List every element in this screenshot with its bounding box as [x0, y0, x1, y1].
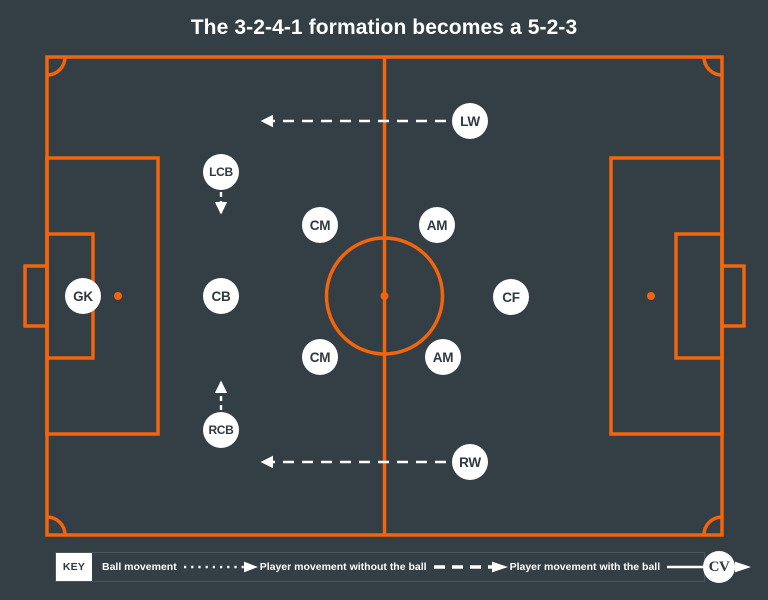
corner-arc-top-right	[704, 57, 722, 75]
football-pitch	[0, 0, 768, 600]
left-penalty-spot	[114, 292, 122, 300]
corner-arc-top-left	[47, 57, 65, 75]
legend-item-ball-movement: Ball movement	[102, 561, 260, 573]
centre-spot	[381, 292, 389, 300]
player-token-lw[interactable]: LW	[452, 103, 488, 139]
legend-label-ball-movement: Ball movement	[102, 561, 177, 573]
left-goal	[25, 266, 47, 326]
cv-logo-badge: CV	[703, 551, 735, 583]
player-token-lcb[interactable]: LCB	[203, 154, 239, 190]
legend-item-player-movement-without-ball: Player movement without the ball	[260, 561, 510, 573]
player-token-cb[interactable]: CB	[203, 278, 239, 314]
left-penalty-area	[47, 158, 158, 434]
legend-label-player-movement-with-ball: Player movement with the ball	[510, 561, 661, 573]
corner-arc-bottom-right	[704, 517, 722, 535]
right-goal-area	[676, 234, 722, 358]
player-token-rw[interactable]: RW	[452, 444, 488, 480]
corner-arc-bottom-left	[47, 517, 65, 535]
ball-movement-line-icon	[184, 561, 260, 573]
player-token-cm-bottom[interactable]: CM	[302, 339, 338, 375]
player-token-gk[interactable]: GK	[65, 278, 101, 314]
player-token-rcb[interactable]: RCB	[203, 412, 239, 448]
player-token-am-top[interactable]: AM	[419, 207, 455, 243]
right-penalty-area	[611, 158, 722, 434]
player-token-cm-top[interactable]: CM	[302, 207, 338, 243]
player-movement-without-ball-line-icon	[434, 561, 510, 573]
right-goal	[722, 266, 744, 326]
player-token-am-bottom[interactable]: AM	[425, 339, 461, 375]
right-penalty-spot	[647, 292, 655, 300]
player-token-cf[interactable]: CF	[493, 279, 529, 315]
tactics-diagram: The 3-2-4-1 formation becomes a 5-2-3	[0, 0, 768, 600]
legend-bar: Ball movement Player movement without th…	[55, 552, 705, 582]
legend-label-player-movement-without-ball: Player movement without the ball	[260, 561, 427, 573]
legend-key-label: KEY	[56, 553, 92, 581]
